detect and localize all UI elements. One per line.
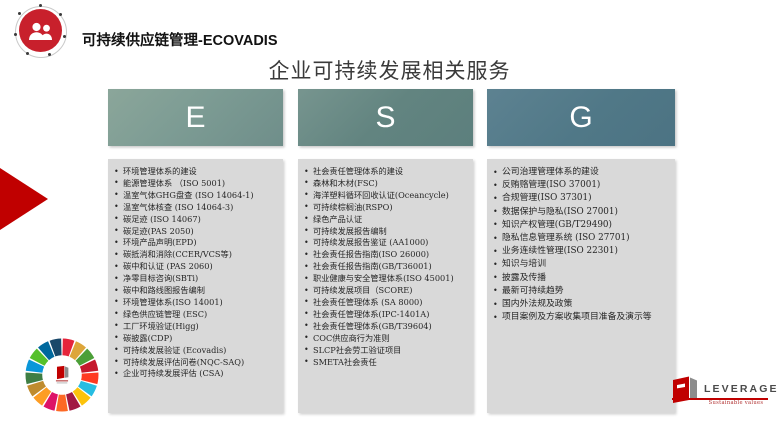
sdg-wheel-logo (24, 337, 100, 413)
badge-tick (59, 13, 62, 16)
list-item: 净零目标咨询(SBTi) (112, 273, 279, 285)
list-item: 绿色供应链管理 (ESC) (112, 309, 279, 321)
column-body-g: 公司治理管理体系的建设 反贿赂管理(ISO 37001) 合规管理(ISO 37… (487, 159, 675, 413)
list-item: 社会责任报告指南(ISO 26000) (302, 249, 469, 261)
badge-people-glyph (19, 9, 62, 52)
list-item: 社会责任管理体系的建设 (302, 166, 469, 178)
column-header-g: G (487, 89, 675, 146)
list-item: 碳抵消和消除(CCER/VCS等) (112, 249, 279, 261)
list-item: 温室气体GHG盘查 (ISO 14064-1) (112, 190, 279, 202)
list-item: SMETA社会责任 (302, 357, 469, 369)
column-body-s: 社会责任管理体系的建设 森林和木材(FSC) 海洋塑料循环回收认证(Oceanc… (298, 159, 473, 413)
badge-tick (39, 4, 42, 7)
column-letter-g: G (569, 101, 592, 135)
list-item: 知识产权管理(GB/T29490) (491, 219, 671, 232)
column-governance: G 公司治理管理体系的建设 反贿赂管理(ISO 37001) 合规管理(ISO … (487, 89, 675, 413)
list-item: 碳中和认证 (PAS 2060) (112, 261, 279, 273)
list-item: 可持续发展报告编制 (302, 226, 469, 238)
list-item: 海洋塑料循环回收认证(Oceancycle) (302, 190, 469, 202)
badge-tick (14, 33, 17, 36)
list-item: 社会责任管理体系(IPC-1401A) (302, 309, 469, 321)
list-item: 能源管理体系 （ISO 5001) (112, 178, 279, 190)
list-environmental: 环境管理体系的建设 能源管理体系 （ISO 5001) 温室气体GHG盘查 (I… (112, 166, 279, 380)
list-item: 可持续发展评估问卷(NQC-SAQ) (112, 357, 279, 369)
list-item: 隐私信息管理系统 (ISO 27701) (491, 232, 671, 245)
column-letter-e: E (185, 101, 205, 135)
column-header-e: E (108, 89, 283, 146)
list-item: 碳足迹(PAS 2050) (112, 226, 279, 238)
leverage-logo: LEVERAGE Sustainable values (670, 376, 770, 422)
list-item: 最新可持续趋势 (491, 285, 671, 298)
list-item: 环境产品声明(EPD) (112, 237, 279, 249)
list-item: 国内外法规及政策 (491, 298, 671, 311)
leverage-mark-icon (670, 376, 700, 404)
list-item: 社会责任管理体系(GB/T39604) (302, 321, 469, 333)
list-item: 合规管理(ISO 37301) (491, 192, 671, 205)
column-social: S 社会责任管理体系的建设 森林和木材(FSC) 海洋塑料循环回收认证(Ocea… (298, 89, 473, 413)
list-item: 可持续棕榈油(RSPO) (302, 202, 469, 214)
leverage-wordmark: LEVERAGE (704, 383, 779, 395)
list-item: 环境管理体系(ISO 14001) (112, 297, 279, 309)
page-title: 可持续供应链管理-ECOVADIS (82, 29, 278, 50)
column-header-s: S (298, 89, 473, 146)
left-arrow-decoration (0, 168, 48, 230)
list-item: 披露及传播 (491, 272, 671, 285)
list-item: 数据保护与隐私(ISO 27001) (491, 206, 671, 219)
list-item: 温室气体核查 (ISO 14064-3) (112, 202, 279, 214)
list-item: 社会责任报告指南(GB/T36001) (302, 261, 469, 273)
people-group-icon (14, 5, 68, 59)
main-title: 企业可持续发展相关服务 (0, 55, 779, 85)
list-item: 项目案例及方案收集项目准备及演示等 (491, 311, 671, 324)
column-body-e: 环境管理体系的建设 能源管理体系 （ISO 5001) 温室气体GHG盘查 (I… (108, 159, 283, 413)
column-environmental: E 环境管理体系的建设 能源管理体系 （ISO 5001) 温室气体GHG盘查 … (108, 89, 283, 413)
list-social: 社会责任管理体系的建设 森林和木材(FSC) 海洋塑料循环回收认证(Oceanc… (302, 166, 469, 368)
list-governance: 公司治理管理体系的建设 反贿赂管理(ISO 37001) 合规管理(ISO 37… (491, 166, 671, 324)
list-item: 可持续发展验证 (Ecovadis) (112, 345, 279, 357)
list-item: 企业可持续发展评估 (CSA) (112, 368, 279, 380)
list-item: 碳披露(CDP) (112, 333, 279, 345)
list-item: 知识与培训 (491, 258, 671, 271)
list-item: 社会责任管理体系 (SA 8000) (302, 297, 469, 309)
leverage-tagline: Sustainable values (702, 400, 770, 406)
list-item: 业务连续性管理(ISO 22301) (491, 245, 671, 258)
slide-header: 可持续供应链管理-ECOVADIS (0, 0, 779, 58)
column-letter-s: S (375, 101, 395, 135)
list-item: SLCP社会劳工验证项目 (302, 345, 469, 357)
list-item: COC供应商行为准则 (302, 333, 469, 345)
list-item: 碳中和路线图报告编制 (112, 285, 279, 297)
badge-tick (18, 12, 21, 15)
badge-tick (63, 35, 66, 38)
list-item: 环境管理体系的建设 (112, 166, 279, 178)
list-item: 绿色产品认证 (302, 214, 469, 226)
list-item: 工厂环境验证(Higg) (112, 321, 279, 333)
sdg-wheel-segment (56, 395, 68, 412)
list-item: 可持续发展项目（SCORE) (302, 285, 469, 297)
list-item: 森林和木材(FSC) (302, 178, 469, 190)
list-item: 可持续发展报告鉴证 (AA1000) (302, 237, 469, 249)
list-item: 公司治理管理体系的建设 (491, 166, 671, 179)
list-item: 碳足迹 (ISO 14067) (112, 214, 279, 226)
list-item: 职业健康与安全管理体系(ISO 45001) (302, 273, 469, 285)
list-item: 反贿赂管理(ISO 37001) (491, 179, 671, 192)
